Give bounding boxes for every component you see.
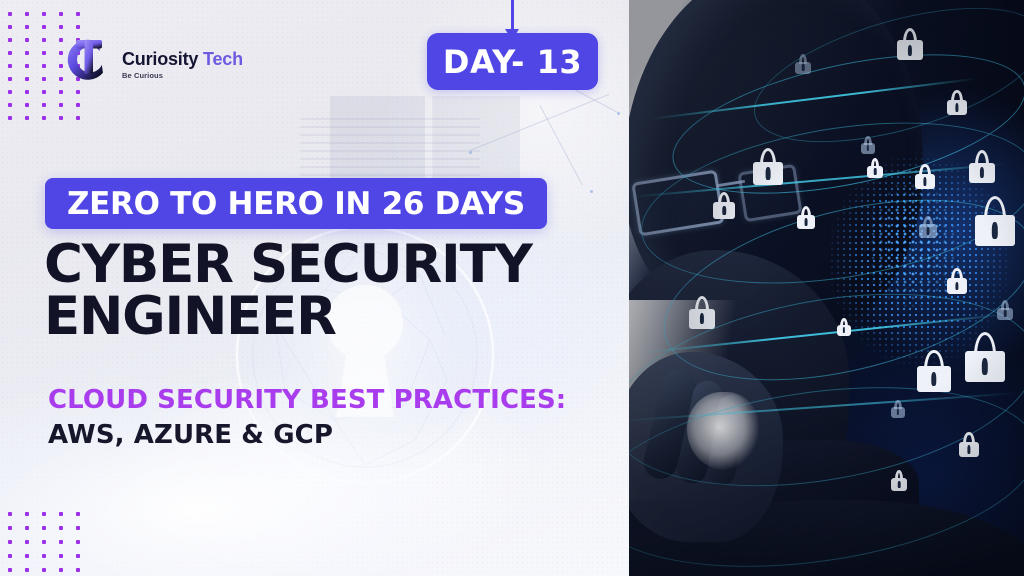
padlock-icon [965, 332, 1005, 382]
grid-dot [8, 116, 12, 120]
grid-dot [59, 12, 63, 16]
grid-dot [25, 12, 29, 16]
padlock-icon [959, 432, 979, 457]
grid-dot [8, 38, 12, 42]
grid-dot [42, 526, 46, 530]
page-title: CYBER SECURITY ENGINEER [44, 239, 584, 343]
grid-dot [8, 103, 12, 107]
cybersecurity-profile-photo [629, 0, 1024, 576]
grid-dot [25, 540, 29, 544]
grid-dot [76, 554, 80, 558]
grid-dot [25, 116, 29, 120]
grid-dot [76, 526, 80, 530]
headline-line-2: ENGINEER [44, 291, 584, 343]
grid-dot [42, 554, 46, 558]
grid-dot [59, 116, 63, 120]
grid-dot [76, 25, 80, 29]
grid-dot [25, 77, 29, 81]
grid-dot [76, 90, 80, 94]
padlock-icon [947, 268, 967, 294]
grid-dot [25, 512, 29, 516]
grid-dot [76, 540, 80, 544]
grid-dot [8, 568, 12, 572]
grid-dot [59, 540, 63, 544]
grid-dot [42, 103, 46, 107]
grid-dot [42, 25, 46, 29]
grid-dot [25, 51, 29, 55]
padlock-icon [753, 148, 783, 185]
grid-dot [25, 38, 29, 42]
grid-dot [42, 12, 46, 16]
network-node [469, 151, 472, 154]
grid-dot [8, 526, 12, 530]
grid-dot [59, 90, 63, 94]
grid-dot [59, 512, 63, 516]
padlock-icon [915, 164, 935, 189]
grid-dot [76, 512, 80, 516]
grid-dot [8, 64, 12, 68]
grid-dot [59, 103, 63, 107]
course-duration-banner[interactable]: ZERO TO HERO IN 26 DAYS [45, 178, 547, 229]
day-badge-label: DAY- 13 [443, 43, 582, 81]
brand-name-part2: Tech [203, 49, 243, 69]
padlock-icon [897, 28, 923, 60]
grid-dot [8, 12, 12, 16]
grid-dot [8, 90, 12, 94]
grid-dot [8, 77, 12, 81]
padlock-icon [689, 296, 715, 329]
grid-dot [42, 116, 46, 120]
padlock-icon [891, 400, 905, 418]
grid-dot [8, 51, 12, 55]
subtitle-primary: CLOUD SECURITY BEST PRACTICES: [48, 385, 566, 415]
grid-dot [76, 568, 80, 572]
padlock-icon [917, 350, 951, 392]
padlock-icon [997, 300, 1013, 320]
grid-dot [25, 90, 29, 94]
grid-dot [59, 554, 63, 558]
grid-dot [25, 554, 29, 558]
grid-dot [76, 12, 80, 16]
grid-dot [42, 77, 46, 81]
padlock-icon [837, 318, 851, 336]
padlock-icon [861, 136, 875, 154]
padlock-icon [891, 470, 907, 491]
grid-dot [25, 568, 29, 572]
grid-dot [25, 526, 29, 530]
grid-dot [8, 25, 12, 29]
grid-dot [25, 64, 29, 68]
padlock-icon [795, 54, 811, 74]
grid-dot [8, 540, 12, 544]
padlock-icon [919, 216, 937, 238]
padlock-icon [975, 196, 1015, 246]
grid-dot [59, 526, 63, 530]
grid-dot [42, 90, 46, 94]
banner-label: ZERO TO HERO IN 26 DAYS [67, 186, 525, 222]
grid-dot [42, 568, 46, 572]
padlock-icon [797, 206, 815, 229]
brand-name-part1: Curiosity [122, 49, 198, 69]
grid-dot [25, 25, 29, 29]
day-badge[interactable]: DAY- 13 [427, 33, 598, 90]
grid-dot [42, 64, 46, 68]
grid-dot [76, 116, 80, 120]
curiosity-tech-c-t-monogram-icon [57, 31, 115, 89]
padlock-icon [969, 150, 995, 183]
grid-dot [59, 568, 63, 572]
padlock-icon [947, 90, 967, 115]
subtitle-secondary: AWS, AZURE & GCP [48, 420, 333, 450]
padlock-icon [867, 158, 883, 178]
brand-tagline: Be Curious [122, 71, 243, 80]
grid-dot [8, 554, 12, 558]
grid-dot [42, 512, 46, 516]
grid-dot [76, 103, 80, 107]
grid-dot [42, 540, 46, 544]
grid-dot [25, 103, 29, 107]
grid-dot [42, 51, 46, 55]
padlock-icon [713, 192, 735, 219]
slide-canvas: Curiosity Tech Be Curious DAY- 13 ZERO T… [0, 0, 1024, 576]
grid-dot [8, 512, 12, 516]
brand-logo[interactable]: Curiosity Tech Be Curious [57, 31, 243, 89]
grid-dot [59, 25, 63, 29]
grid-dot [42, 38, 46, 42]
network-node [617, 112, 620, 115]
network-node [590, 190, 593, 193]
